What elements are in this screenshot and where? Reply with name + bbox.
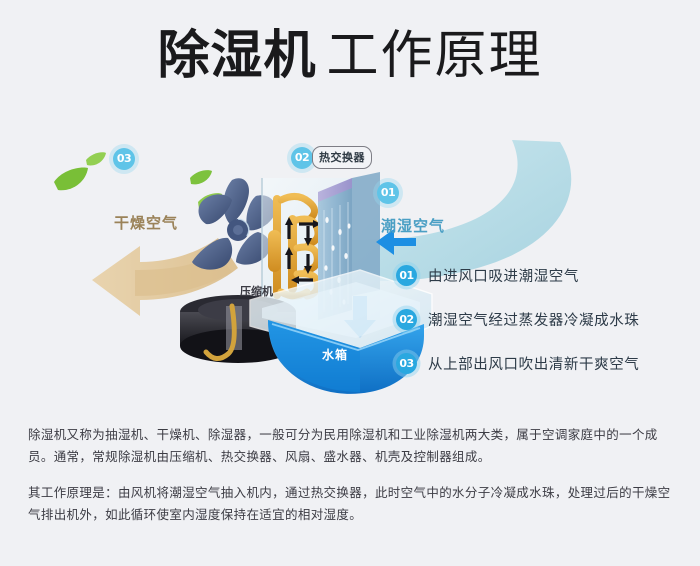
legend-item: 01 由进风口吸进潮湿空气: [396, 258, 686, 292]
page-title-primary: 除湿机: [157, 26, 316, 86]
humid-air-label: 潮湿空气: [381, 215, 445, 236]
legend-item: 02 潮湿空气经过蒸发器冷凝成水珠: [396, 302, 686, 336]
leaf-icon: [54, 152, 222, 209]
legend-text-02: 潮湿空气经过蒸发器冷凝成水珠: [428, 309, 639, 330]
diagram-badge-03: 03: [113, 148, 135, 170]
diagram-badge-01: 01: [377, 182, 399, 204]
paragraph-2: 其工作原理是：由风机将潮湿空气抽入机内，通过热交换器，此时空气中的水分子冷凝成水…: [28, 482, 676, 526]
diagram-badge-02: 02: [291, 147, 313, 169]
dry-air-label: 干燥空气: [114, 212, 178, 233]
water-tank-label: 水箱: [322, 346, 348, 363]
page-title: 除湿机工作原理: [0, 30, 700, 82]
legend-badge-03: 03: [396, 353, 417, 374]
process-legend: 01 由进风口吸进潮湿空气 02 潮湿空气经过蒸发器冷凝成水珠 03 从上部出风…: [396, 258, 686, 390]
description-text: 除湿机又称为抽湿机、干燥机、除湿器，一般可分为民用除湿机和工业除湿机两大类，属于…: [28, 424, 676, 540]
legend-badge-02: 02: [396, 309, 417, 330]
heat-exchanger-callout: 热交换器: [312, 146, 372, 169]
legend-badge-01: 01: [396, 265, 417, 286]
compressor-label: 压缩机: [240, 283, 273, 299]
legend-text-03: 从上部出风口吹出清新干爽空气: [428, 353, 639, 374]
paragraph-1: 除湿机又称为抽湿机、干燥机、除湿器，一般可分为民用除湿机和工业除湿机两大类，属于…: [28, 424, 676, 468]
legend-item: 03 从上部出风口吹出清新干爽空气: [396, 346, 686, 380]
page-title-secondary: 工作原理: [327, 26, 543, 86]
legend-text-01: 由进风口吸进潮湿空气: [428, 265, 579, 286]
